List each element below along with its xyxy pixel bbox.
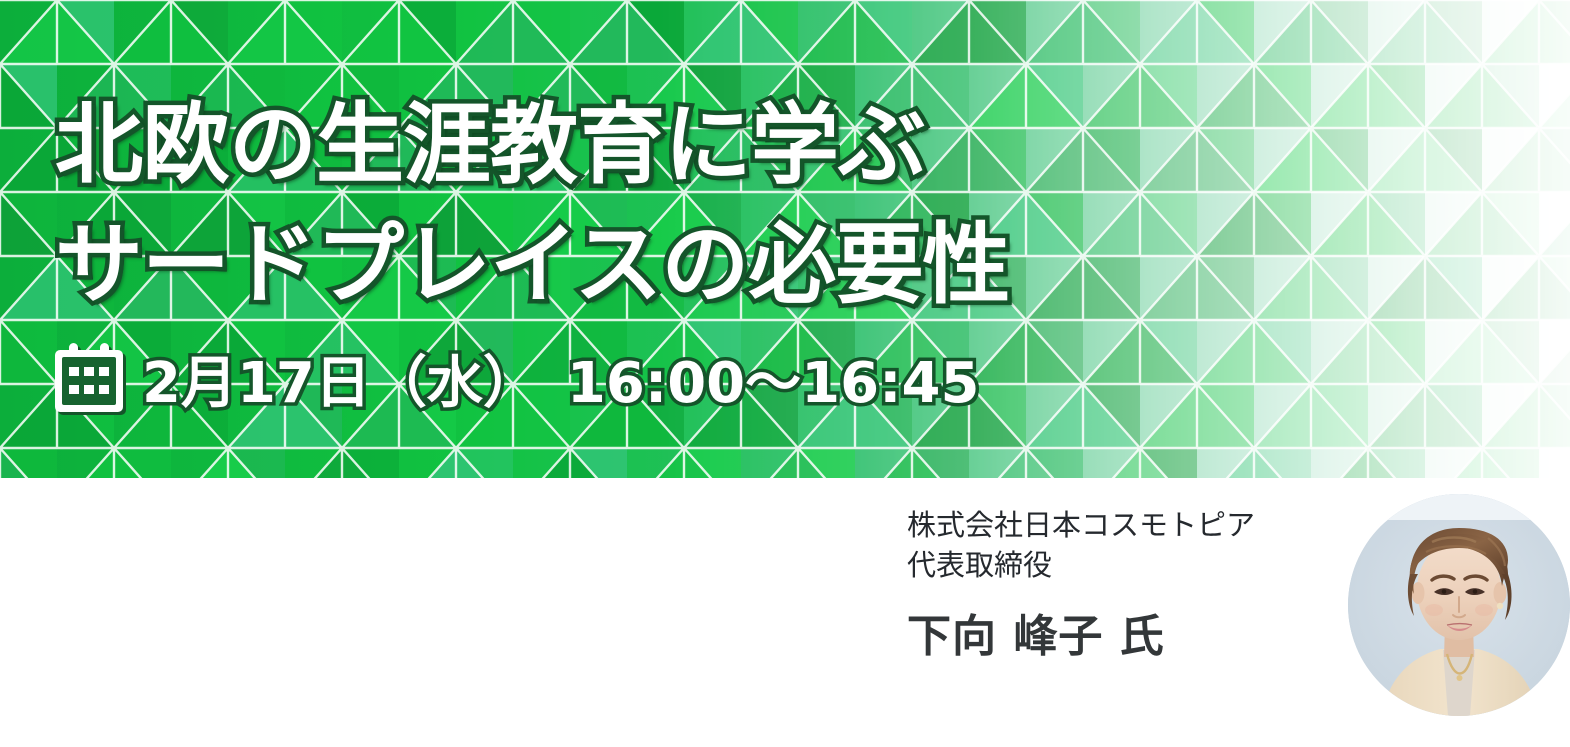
speaker-info: 株式会社日本コスモトピア 代表取締役 下向 峰子 氏: [907, 505, 1337, 665]
event-date-row: 2月17日（水） 16:00〜16:45: [52, 335, 979, 421]
calendar-icon: [52, 341, 126, 415]
banner-title-line-1: 北欧の生涯教育に学ぶ: [55, 74, 925, 201]
event-banner-page: 北欧の生涯教育に学ぶ サードプレイスの必要性: [0, 0, 1570, 747]
speaker-role: 代表取締役: [907, 545, 1337, 585]
speaker-organization: 株式会社日本コスモトピア: [907, 505, 1337, 545]
speaker-portrait: [1348, 494, 1570, 716]
speaker-name: 下向 峰子 氏: [907, 609, 1337, 665]
banner: 北欧の生涯教育に学ぶ サードプレイスの必要性: [0, 0, 1570, 478]
banner-content: 北欧の生涯教育に学ぶ サードプレイスの必要性: [0, 0, 1570, 478]
banner-title-line-2: サードプレイスの必要性: [55, 194, 1009, 321]
event-date-text: 2月17日（水） 16:00〜16:45: [142, 338, 979, 419]
